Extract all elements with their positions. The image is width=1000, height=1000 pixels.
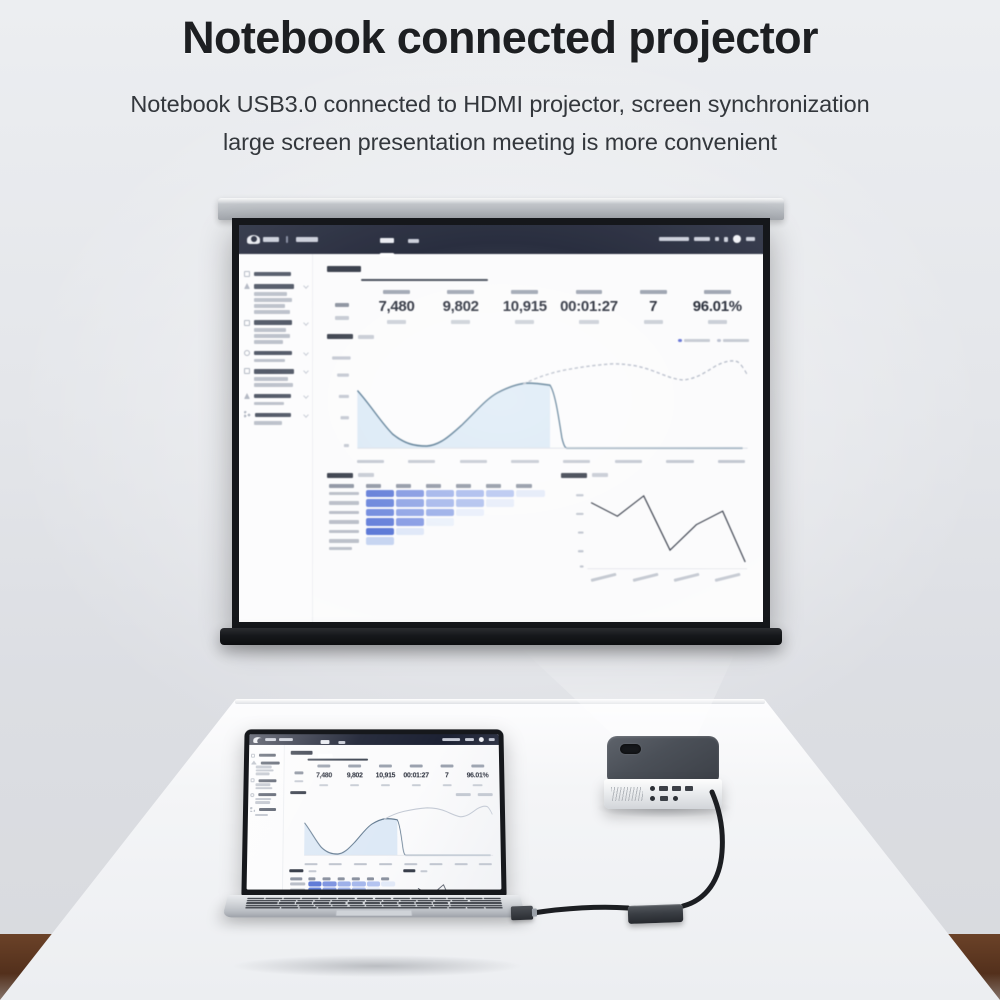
- marketing-header: Notebook connected projector Notebook US…: [0, 0, 1000, 161]
- event-trend-svg: [403, 879, 495, 890]
- projected-image-surface: 7,480 9,802 10,915: [239, 225, 763, 622]
- clock-icon: [244, 350, 250, 356]
- sidebar-label: [259, 793, 277, 796]
- kpi-label: [704, 290, 731, 294]
- keyboard-row: [245, 907, 503, 909]
- kpi-value: 9,802: [429, 299, 493, 315]
- chevron-down-icon: [303, 369, 309, 375]
- kpi-value: 96.01%: [685, 299, 749, 315]
- kpi-avg-duration: 00:01:27: [557, 290, 621, 323]
- trend-x-axis-labels: [290, 860, 495, 865]
- x-tick-label: [563, 460, 590, 463]
- traffic-trend-chart: [290, 800, 495, 860]
- sidebar-label: [254, 284, 294, 289]
- projector-lens: [620, 744, 641, 754]
- sidebar-subitem[interactable]: [248, 787, 283, 790]
- grid-icon: [244, 271, 250, 277]
- section-underline: [361, 279, 488, 281]
- kpi-value: 7,480: [364, 299, 428, 315]
- subtitle-line-2: large screen presentation meeting is mor…: [0, 123, 1000, 161]
- event-trend-line: [591, 496, 745, 562]
- keyboard-row: [247, 900, 502, 902]
- sidebar-label: [254, 369, 294, 374]
- sidebar-subitem-funnels[interactable]: [239, 382, 312, 388]
- kpi-value: 00:01:27: [557, 299, 621, 315]
- logo-wordmark: [263, 237, 279, 242]
- chevron-down-icon: [303, 350, 309, 356]
- traffic-trend-chart: [327, 350, 749, 457]
- trend-line-previous: [385, 806, 493, 819]
- section-app-overview: [327, 266, 749, 272]
- legend-item-previous[interactable]: [478, 793, 493, 795]
- navbar-right-controls: [659, 235, 755, 243]
- sidebar-label: [259, 779, 277, 782]
- kpi-value: 00:01:27: [401, 772, 432, 779]
- traffic-trend-svg: [327, 350, 749, 457]
- kpi-label: [576, 290, 603, 294]
- kpi-metrics-row: 7,480 9,802 10,915: [291, 765, 493, 787]
- kpi-compare: [387, 320, 406, 324]
- x-tick-label: [615, 460, 642, 463]
- tab-overview[interactable]: [321, 734, 330, 748]
- sidebar-label: [259, 808, 275, 811]
- legend-marker-icon: [678, 339, 682, 343]
- grid-icon: [251, 753, 255, 757]
- account-selector[interactable]: [442, 738, 460, 741]
- sidebar-subitem-devices[interactable]: [239, 309, 312, 315]
- kpi-sessions: 9,802: [339, 765, 370, 787]
- kpi-compare: [451, 320, 470, 324]
- sidebar-subitem[interactable]: [248, 813, 283, 816]
- dashboard-body: 7,480 9,802 10,915: [247, 745, 502, 889]
- kpi-bounce-rate: 96.01%: [462, 765, 493, 787]
- section-title-bar: [291, 792, 307, 795]
- legend-item-previous[interactable]: [717, 339, 749, 343]
- funnel-icon: [244, 393, 250, 399]
- cloud-logo-icon: [253, 737, 262, 743]
- sidebar-group-custom: [239, 391, 312, 406]
- site-name-label: [296, 237, 318, 242]
- help-icon[interactable]: [715, 237, 719, 241]
- navbar-tabs: [380, 230, 419, 248]
- desk-front-edge: [235, 699, 765, 704]
- kpi-sessions: 9,802: [429, 290, 493, 323]
- kpi-value: 7,480: [309, 772, 340, 779]
- section-event-trend: [561, 473, 749, 478]
- table-row: [329, 509, 545, 517]
- table-header-row: [329, 484, 545, 488]
- trend-chart-header: [291, 792, 494, 798]
- share-icon: [244, 411, 251, 418]
- laptop-base: [222, 895, 525, 917]
- section-title-bar: [327, 473, 353, 478]
- dashboard-main-content: 7,480 9,802 10,915: [283, 745, 502, 889]
- chevron-down-icon: [303, 320, 309, 326]
- sidebar-subitem[interactable]: [249, 772, 284, 775]
- audio-jack-port[interactable]: [650, 786, 655, 791]
- sidebar-label: [254, 320, 292, 325]
- laptop-trackpad[interactable]: [336, 910, 413, 916]
- table-row: [329, 537, 545, 545]
- section-trend-analysis: [291, 792, 307, 795]
- table-row: [290, 887, 395, 889]
- laptop-keyboard[interactable]: [245, 898, 503, 909]
- kpi-value: 10,915: [493, 299, 557, 315]
- sidebar-group-traffic: [239, 318, 312, 345]
- section-title-bar: [291, 751, 313, 755]
- trend-area-fill: [305, 818, 398, 855]
- section-title-sub: [358, 335, 374, 339]
- projector-port-row-bottom: [650, 796, 678, 801]
- usb3-to-hdmi-adapter: [628, 904, 684, 924]
- traffic-trend-svg: [290, 800, 495, 860]
- sidebar-label: [254, 394, 291, 399]
- x-tick-label: [666, 460, 693, 463]
- kpi-pageviews: 10,915: [370, 765, 401, 787]
- x-tick-label: [460, 460, 487, 463]
- table-header-row: [290, 878, 395, 881]
- kpi-visitors: 7,480: [309, 765, 340, 787]
- analytics-logo[interactable]: [253, 737, 276, 743]
- event-trend-panel: [403, 870, 495, 890]
- table-row: [329, 528, 545, 536]
- kpi-bounce-rate: 96.01%: [685, 290, 749, 323]
- screen-weighted-bottom-bar: [220, 628, 782, 645]
- x-tick-label: [718, 460, 745, 463]
- usb3-connector-plug: [511, 906, 533, 921]
- kpi-pages-per-session: 7: [621, 290, 685, 323]
- kpi-avg-duration: 00:01:27: [401, 765, 432, 787]
- share-icon: [250, 807, 255, 812]
- tab-overview[interactable]: [380, 230, 394, 248]
- hdmi-port-2[interactable]: [672, 786, 681, 791]
- section-new-user-retention: [290, 870, 397, 873]
- kpi-compare: [708, 320, 727, 324]
- trend-line-today: [357, 384, 742, 449]
- kpi-value: 7: [621, 299, 685, 315]
- kpi-label: [447, 290, 474, 294]
- kpi-label: [383, 290, 410, 294]
- sidebar-item-behavior[interactable]: [239, 348, 312, 357]
- site-selector[interactable]: [465, 738, 474, 741]
- tab-reports-label: [339, 741, 346, 744]
- y-axis-ticks: [332, 357, 351, 448]
- kpi-pages-per-session: 7: [431, 765, 462, 787]
- tab-reports[interactable]: [408, 230, 419, 248]
- user-avatar[interactable]: [479, 737, 484, 742]
- site-selector[interactable]: [694, 237, 710, 241]
- new-user-retention-panel: [327, 473, 547, 593]
- kpi-row-labels: [295, 772, 309, 787]
- trend-chart-legend: [456, 793, 493, 795]
- person-icon: [244, 283, 250, 289]
- sidebar-item-audience[interactable]: [239, 282, 312, 291]
- sidebar-group-conversion: [239, 367, 312, 388]
- dashboard-navbar: [249, 734, 499, 745]
- kpi-row-labels: [335, 303, 364, 323]
- dashboard-sidebar: [239, 254, 313, 622]
- sidebar-subitem-referrals[interactable]: [239, 339, 312, 345]
- trend-chart-legend: [678, 339, 749, 343]
- trend-line-previous: [523, 361, 748, 384]
- usb-port[interactable]: [685, 786, 693, 791]
- kpi-pageviews: 10,915: [493, 290, 557, 323]
- page-title: Notebook connected projector: [0, 14, 1000, 63]
- laptop-display: 7,480 9,802 10,915: [247, 734, 502, 889]
- kpi-row-label-today: [335, 303, 349, 307]
- dashboard-navbar: [239, 225, 763, 254]
- event-trend-chart: [561, 484, 749, 577]
- analytics-dashboard-laptop: 7,480 9,802 10,915: [247, 734, 502, 889]
- chevron-down-icon: [303, 284, 309, 290]
- section-event-trend: [403, 870, 494, 873]
- projector-front-panel: [604, 779, 722, 809]
- power-port[interactable]: [650, 796, 655, 801]
- keyboard-row: [246, 905, 503, 907]
- legend-label: [684, 339, 710, 342]
- mini-projector: [604, 736, 722, 809]
- event-trend-chart: [403, 879, 495, 890]
- sidebar-item-custom[interactable]: [239, 391, 312, 400]
- screen-roller-casing: [218, 198, 784, 220]
- table-row: [329, 518, 545, 526]
- x-tick-label: [357, 460, 384, 463]
- account-selector[interactable]: [659, 237, 689, 241]
- kpi-label: [640, 290, 667, 294]
- sidebar-item-overview[interactable]: [249, 753, 284, 758]
- projector-vents: [611, 787, 643, 801]
- table-row: [329, 490, 545, 498]
- dashboard-body: 7,480 9,802 10,915: [239, 254, 763, 622]
- sidebar-subitem-pages[interactable]: [239, 358, 312, 364]
- trend-area-fill: [357, 384, 550, 449]
- sidebar-label: [255, 413, 291, 418]
- table-row: [329, 499, 545, 507]
- message-icon[interactable]: [724, 237, 728, 242]
- section-underline: [307, 758, 367, 760]
- section-title-sub: [592, 473, 608, 477]
- section-title-bar: [327, 334, 353, 339]
- sidebar-item-conversion[interactable]: [239, 367, 312, 376]
- sidebar-subitem-events[interactable]: [239, 400, 312, 406]
- kpi-compare: [515, 320, 534, 324]
- trend-line-today: [305, 818, 491, 855]
- kpi-compare: [644, 320, 663, 324]
- sidebar-label: [259, 754, 276, 757]
- laptop-shadow: [232, 955, 522, 977]
- sidebar-group-audience: [239, 282, 312, 315]
- kpi-row-label-compare: [335, 316, 349, 319]
- x-tick-label: [408, 460, 435, 463]
- sidebar-item-share[interactable]: [239, 410, 312, 420]
- kpi-label: [511, 290, 538, 294]
- laptop-lid: 7,480 9,802 10,915: [241, 729, 506, 896]
- bottom-panels: [327, 473, 749, 593]
- sidebar-label: [254, 272, 291, 277]
- event-trend-line: [418, 885, 494, 890]
- navbar-divider: [286, 236, 288, 243]
- navbar-right-controls: [442, 737, 495, 742]
- navbar-tabs: [321, 734, 346, 748]
- dashboard-main-content: 7,480 9,802 10,915: [313, 254, 763, 622]
- sidebar-label: [254, 351, 292, 356]
- target-icon: [251, 793, 255, 797]
- analytics-dashboard-projected: 7,480 9,802 10,915: [239, 225, 763, 622]
- event-trend-svg: [561, 484, 749, 577]
- dashboard-sidebar: [247, 745, 285, 889]
- tab-reports-label: [408, 239, 419, 244]
- sidebar-subitem-settings[interactable]: [239, 420, 312, 426]
- chevron-down-icon: [303, 393, 309, 399]
- person-icon: [251, 761, 257, 765]
- keyboard-row: [246, 902, 502, 904]
- section-trend-analysis: [327, 334, 374, 339]
- sidebar-item-traffic[interactable]: [239, 318, 312, 327]
- site-name-label: [279, 738, 293, 741]
- legend-label: [723, 339, 749, 342]
- page-subtitle: Notebook USB3.0 connected to HDMI projec…: [0, 85, 1000, 161]
- projection-screen-frame: 7,480 9,802 10,915: [232, 218, 770, 628]
- sidebar-label: [261, 761, 279, 764]
- projector-top-cover: [607, 736, 719, 782]
- kpi-compare: [579, 320, 598, 324]
- notebook-computer: 7,480 9,802 10,915: [228, 728, 520, 926]
- trend-chart-header: [327, 334, 749, 346]
- subtitle-line-1: Notebook USB3.0 connected to HDMI projec…: [0, 85, 1000, 123]
- cohort-retention-table: [289, 877, 396, 890]
- trend-x-axis-labels: [327, 457, 749, 463]
- legend-marker-icon: [717, 339, 721, 343]
- sidebar-subitem[interactable]: [248, 801, 283, 804]
- kpi-visitors: 7,480: [364, 290, 428, 323]
- x-tick-label: [511, 460, 538, 463]
- bottom-panels: [289, 870, 496, 890]
- username-label: [489, 738, 495, 741]
- flag-icon: [251, 778, 255, 782]
- reset-port[interactable]: [673, 796, 678, 801]
- section-new-user-retention: [327, 473, 547, 478]
- table-row: [290, 881, 395, 886]
- event-trend-x-labels: [561, 579, 749, 582]
- legend-item-today[interactable]: [678, 339, 710, 343]
- new-user-retention-panel: [289, 870, 397, 890]
- sidebar-group-behavior: [239, 348, 312, 363]
- sidebar-group-overview: [239, 269, 312, 278]
- kpi-value: 9,802: [339, 772, 370, 779]
- chevron-down-icon: [303, 412, 309, 418]
- tab-overview-label: [380, 238, 394, 244]
- tab-overview-label: [321, 740, 330, 744]
- target-icon: [244, 368, 250, 374]
- logo-wordmark: [265, 738, 276, 741]
- usb-port-2[interactable]: [660, 796, 668, 801]
- flag-icon: [244, 320, 250, 326]
- legend-item-today[interactable]: [456, 793, 471, 795]
- kpi-value: 10,915: [370, 772, 401, 779]
- kpi-value: 96.01%: [462, 772, 493, 779]
- y-axis-ticks: [576, 494, 584, 567]
- cohort-retention-table: [327, 482, 547, 553]
- tab-reports[interactable]: [339, 734, 346, 748]
- sidebar-item-overview[interactable]: [239, 269, 312, 278]
- kpi-value: 7: [431, 772, 462, 779]
- kpi-metrics-row: 7,480 9,802 10,915: [327, 290, 749, 323]
- cloud-logo-icon: [247, 235, 260, 244]
- sidebar-group-share: [239, 410, 312, 426]
- section-title-sub: [358, 473, 374, 477]
- analytics-logo[interactable]: [247, 235, 279, 244]
- section-title-bar: [561, 473, 587, 478]
- section-title-bar: [327, 266, 361, 272]
- username-label: [746, 237, 755, 241]
- event-trend-panel: [561, 473, 749, 593]
- user-avatar[interactable]: [733, 235, 741, 243]
- keyboard-row: [247, 898, 501, 899]
- projector-port-row-top: [650, 786, 693, 791]
- table-row: [329, 547, 545, 551]
- hdmi-port[interactable]: [659, 786, 668, 791]
